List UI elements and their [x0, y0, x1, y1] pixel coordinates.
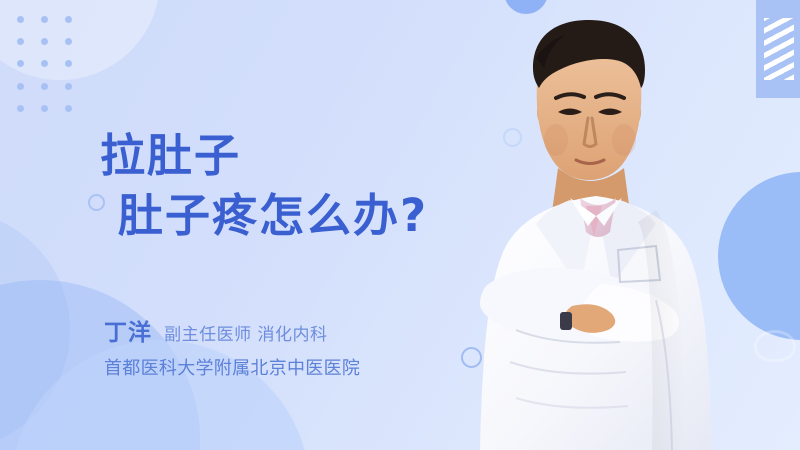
dot-grid-pattern-icon	[8, 8, 80, 120]
title-line-1: 拉肚子	[100, 126, 520, 186]
watermark-icon	[754, 330, 796, 362]
video-thumbnail: 拉肚子 肚子疼怎么办? 丁洋 副主任医师 消化内科 首都医科大学附属北京中医医院	[0, 0, 800, 450]
doctor-name-row: 丁洋 副主任医师 消化内科	[104, 322, 524, 345]
diagonal-stripes-panel-decoration	[756, 0, 800, 98]
doctor-title-department: 副主任医师 消化内科	[164, 325, 327, 345]
doctor-name: 丁洋	[104, 320, 152, 346]
title-line-2: 肚子疼怎么办?	[100, 186, 520, 246]
doctor-credit-block: 丁洋 副主任医师 消化内科 首都医科大学附属北京中医医院	[104, 322, 524, 380]
doctor-hospital: 首都医科大学附属北京中医医院	[104, 354, 524, 380]
soft-circle-top-left-decoration	[0, 0, 160, 80]
title-block: 拉肚子 肚子疼怎么办?	[100, 126, 520, 246]
diagonal-stripes-icon	[764, 18, 794, 80]
soft-blob-left-decoration	[0, 210, 70, 450]
